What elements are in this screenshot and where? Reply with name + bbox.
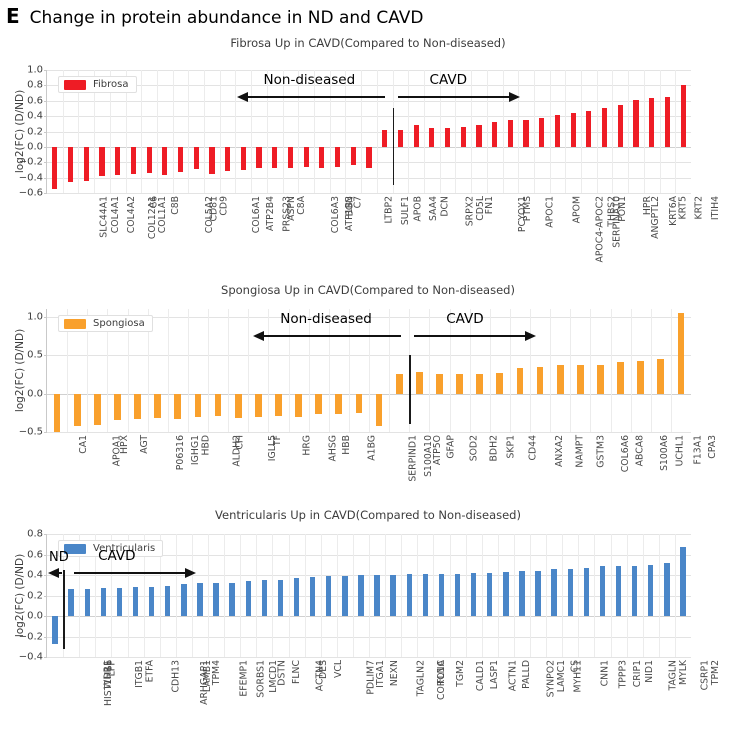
x-tick-label: ITGB1	[134, 660, 145, 688]
x-tick-label: THBS2	[606, 196, 617, 227]
bar	[577, 365, 584, 393]
x-tick-label: SORBS1	[256, 660, 267, 698]
y-tick-label: −0.5	[19, 427, 43, 438]
x-tick-label: KRT2	[693, 196, 704, 219]
gridline-vertical	[369, 309, 370, 432]
gridline-vertical	[514, 534, 515, 657]
x-tick-label: CPA3	[707, 435, 718, 459]
bar	[455, 574, 460, 616]
x-tick-label: HBD	[201, 435, 212, 456]
x-tick-label: LASP1	[489, 660, 500, 689]
gridline-vertical	[565, 70, 566, 193]
gridline-vertical	[417, 534, 418, 657]
gridline-horizontal	[47, 132, 691, 133]
bar	[68, 147, 73, 182]
gridline-vertical	[675, 70, 676, 193]
bar	[288, 147, 293, 168]
x-tick-label: COL6A3	[330, 196, 341, 233]
bar	[94, 394, 101, 426]
gridline-vertical	[471, 70, 472, 193]
y-tick-mark	[44, 193, 47, 194]
gridline-vertical	[349, 309, 350, 432]
plot-area-fibrosa: −0.6−0.4−0.20.00.20.40.60.81.0	[46, 70, 691, 194]
gridline-vertical	[612, 70, 613, 193]
x-tick-label: NAMPT	[575, 435, 586, 468]
group-divider-line	[409, 355, 411, 424]
gridline-vertical	[455, 70, 456, 193]
annotation-arrow-non-diseased	[237, 92, 385, 102]
y-tick-label: −0.6	[19, 188, 43, 199]
x-tick-label: C6	[148, 196, 159, 208]
x-tick-label: TGM2	[455, 660, 466, 687]
bar	[476, 374, 483, 394]
bar	[617, 362, 624, 394]
gridline-vertical	[518, 70, 519, 193]
bar	[134, 394, 141, 419]
bar	[382, 130, 387, 147]
bar	[99, 147, 104, 176]
y-tick-label: 1.0	[27, 311, 43, 322]
bar	[68, 589, 73, 616]
bar	[342, 576, 347, 616]
gridline-vertical	[337, 534, 338, 657]
bar	[537, 367, 544, 394]
bar	[356, 394, 363, 413]
x-tick-label: LAMC1	[557, 660, 568, 692]
bar	[101, 588, 106, 616]
annotation-nd-label: ND	[49, 550, 69, 565]
x-tick-label: P06316	[175, 435, 186, 470]
y-tick-mark	[44, 162, 47, 163]
gridline-vertical	[546, 534, 547, 657]
gridline-vertical	[168, 309, 169, 432]
annotation-non-diseased-label: Non-diseased	[264, 72, 356, 88]
x-tick-label: ITIH4	[710, 196, 721, 220]
gridline-vertical	[498, 534, 499, 657]
gridline-vertical	[611, 534, 612, 657]
x-tick-label: CSRP1	[700, 660, 711, 690]
bar	[115, 147, 120, 175]
y-tick-label: 0.5	[27, 350, 43, 361]
x-tick-label: TAGLN	[668, 660, 679, 691]
bar	[194, 147, 199, 169]
y-tick-label: 0.8	[27, 80, 43, 91]
legend-spongiosa: Spongiosa	[58, 315, 153, 332]
gridline-vertical	[141, 70, 142, 193]
y-tick-mark	[44, 432, 47, 433]
x-tick-label: NEXN	[390, 660, 401, 686]
x-tick-label: CRIP1	[632, 660, 643, 687]
bar	[256, 147, 261, 169]
annotation-arrow-non-diseased	[253, 331, 401, 341]
x-tick-label: KRT5	[678, 196, 689, 219]
x-tick-label: AHSG	[327, 435, 338, 461]
bar	[241, 147, 246, 170]
bar	[551, 569, 556, 616]
bar	[197, 583, 202, 616]
x-tick-label: SOD2	[468, 435, 479, 461]
chart-title-fibrosa: Fibrosa Up in CAVD(Compared to Non-disea…	[0, 36, 736, 50]
x-tick-label: LTBP2	[383, 196, 394, 223]
bar	[535, 571, 540, 616]
bar	[326, 576, 331, 616]
gridline-vertical	[256, 534, 257, 657]
x-tick-label: GSTM3	[595, 435, 606, 468]
gridline-vertical	[251, 70, 252, 193]
x-tick-label: IGHG1	[190, 435, 201, 465]
bar	[278, 580, 283, 616]
bar	[665, 97, 670, 147]
gridline-vertical	[671, 309, 672, 432]
gridline-vertical	[188, 70, 189, 193]
x-tick-label: TPPP3	[617, 660, 628, 688]
x-tick-label: CDH13	[170, 660, 181, 692]
y-tick-label: 0.4	[27, 570, 43, 581]
chart-title-spongiosa: Spongiosa Up in CAVD(Compared to Non-dis…	[0, 283, 736, 297]
y-tick-mark	[44, 317, 47, 318]
bar	[215, 394, 222, 416]
gridline-vertical	[660, 70, 661, 193]
gridline-horizontal	[47, 116, 691, 117]
bar	[423, 574, 428, 616]
gridline-vertical	[268, 309, 269, 432]
gridline-vertical	[314, 70, 315, 193]
y-tick-label: 0.6	[27, 549, 43, 560]
gridline-vertical	[309, 309, 310, 432]
y-tick-mark	[44, 147, 47, 148]
x-tick-label: COL4A2	[126, 196, 137, 233]
bar	[616, 566, 621, 616]
y-tick-label: −0.2	[19, 631, 43, 642]
bar	[632, 566, 637, 616]
gridline-vertical	[228, 309, 229, 432]
x-tick-label: CALD1	[475, 660, 486, 691]
gridline-vertical	[550, 70, 551, 193]
bar	[174, 394, 181, 419]
bar	[398, 130, 403, 147]
gridline-vertical	[377, 70, 378, 193]
gridline-vertical	[224, 534, 225, 657]
x-tick-label: ANXA2	[554, 435, 565, 467]
gridline-vertical	[192, 534, 193, 657]
gridline-vertical	[487, 70, 488, 193]
bar	[416, 372, 423, 394]
bar	[358, 575, 363, 616]
bar	[114, 394, 121, 420]
x-tick-label: DES	[318, 660, 329, 679]
gridline-vertical	[440, 70, 441, 193]
gridline-vertical	[298, 70, 299, 193]
bar	[557, 365, 564, 393]
gridline-vertical	[305, 534, 306, 657]
x-tick-label: FLNC	[291, 660, 302, 684]
y-tick-label: 0.6	[27, 95, 43, 106]
bar	[439, 574, 444, 616]
x-tick-label: SYNPO2	[546, 660, 557, 697]
gridline-vertical	[272, 534, 273, 657]
bar	[295, 394, 302, 418]
x-tick-label: GFAP	[445, 435, 456, 459]
bar	[351, 147, 356, 165]
gridline-vertical	[627, 534, 628, 657]
gridline-vertical	[188, 309, 189, 432]
gridline-vertical	[345, 70, 346, 193]
gridline-vertical	[389, 309, 390, 432]
y-tick-mark	[44, 534, 47, 535]
bar	[584, 568, 589, 616]
bar	[133, 587, 138, 616]
x-tick-label: FN1	[484, 196, 495, 214]
bar	[633, 100, 638, 147]
bar	[436, 374, 443, 393]
x-tick-label: NID1	[644, 660, 655, 683]
x-tick-label: CFI	[235, 435, 246, 450]
bar	[657, 359, 664, 394]
gridline-vertical	[562, 534, 563, 657]
x-tick-label: LPP	[106, 660, 117, 676]
x-tick-label: BDH2	[488, 435, 499, 461]
bar	[165, 586, 170, 616]
bar	[162, 147, 167, 175]
bar	[519, 571, 524, 616]
gridline-horizontal	[47, 85, 691, 86]
x-tick-label: SKP1	[506, 435, 517, 459]
y-tick-mark	[44, 70, 47, 71]
bar	[476, 125, 481, 147]
y-tick-mark	[44, 657, 47, 658]
bar	[407, 574, 412, 616]
bar	[304, 147, 309, 167]
x-tick-label: S100A6	[659, 435, 670, 471]
bar	[680, 547, 685, 616]
y-tick-mark	[44, 596, 47, 597]
bar	[154, 394, 161, 419]
bar	[181, 584, 186, 616]
x-tick-label: C8B	[170, 196, 181, 215]
x-tick-label: ATP5O	[432, 435, 443, 465]
x-tick-label: COL6A6	[620, 435, 631, 472]
x-tick-label: CA1	[78, 435, 89, 454]
gridline-vertical	[208, 534, 209, 657]
x-tick-label: HBB	[341, 435, 352, 455]
bar	[496, 373, 503, 394]
gridline-vertical	[433, 534, 434, 657]
gridline-vertical	[534, 70, 535, 193]
bar	[149, 587, 154, 616]
gridline-vertical	[631, 309, 632, 432]
bar	[147, 147, 152, 173]
annotation-non-diseased-label: Non-diseased	[280, 311, 372, 327]
legend-label: Fibrosa	[93, 79, 129, 90]
x-tick-label: COL6A1	[252, 196, 263, 233]
bar	[131, 147, 136, 174]
x-tick-label: SULF1	[401, 196, 412, 225]
x-tick-label: C7	[352, 196, 363, 208]
gridline-vertical	[450, 309, 451, 432]
bar	[600, 566, 605, 616]
gridline-vertical	[470, 309, 471, 432]
gridline-vertical	[530, 309, 531, 432]
bar	[597, 365, 604, 393]
gridline-vertical	[385, 534, 386, 657]
x-tick-label: APOC4-APOC2	[595, 196, 606, 263]
x-tick-label: F13A1	[693, 435, 704, 464]
bar	[568, 569, 573, 616]
x-tick-label: HPR	[642, 196, 653, 215]
bar	[503, 572, 508, 616]
bar	[246, 581, 251, 616]
bar	[649, 98, 654, 147]
bar	[648, 565, 653, 616]
y-tick-label: 0.0	[27, 388, 43, 399]
annotation-arrow-cavd	[414, 331, 536, 341]
x-tick-label: SERPIND1	[408, 435, 419, 482]
bar	[310, 577, 315, 616]
bar	[390, 575, 395, 616]
gridline-vertical	[157, 70, 158, 193]
x-tick-label: FLNA	[435, 660, 446, 684]
y-tick-label: 0.0	[27, 611, 43, 622]
y-tick-mark	[44, 132, 47, 133]
y-tick-mark	[44, 355, 47, 356]
bar	[571, 113, 576, 147]
y-tick-mark	[44, 616, 47, 617]
bar	[414, 125, 419, 147]
y-axis-label-spongiosa: log2(FC) (D/ND)	[14, 309, 26, 432]
gridline-vertical	[283, 70, 284, 193]
x-tick-label: TF	[272, 435, 283, 446]
gridline-vertical	[482, 534, 483, 657]
bar	[508, 120, 513, 147]
y-tick-mark	[44, 178, 47, 179]
bar	[445, 128, 450, 147]
bar	[456, 374, 463, 393]
gridline-vertical	[643, 534, 644, 657]
legend-swatch	[64, 80, 86, 90]
bar	[74, 394, 81, 426]
y-tick-mark	[44, 116, 47, 117]
gridline-vertical	[597, 70, 598, 193]
legend-label: Spongiosa	[93, 318, 145, 329]
bar	[523, 120, 528, 147]
gridline-vertical	[651, 309, 652, 432]
group-divider-line	[393, 108, 395, 185]
y-tick-mark	[44, 394, 47, 395]
bar	[262, 580, 267, 616]
gridline-horizontal	[47, 70, 691, 71]
y-tick-label: 1.0	[27, 65, 43, 76]
gridline-vertical	[401, 534, 402, 657]
gridline-vertical	[361, 70, 362, 193]
gridline-vertical	[248, 309, 249, 432]
gridline-vertical	[424, 70, 425, 193]
gridline-vertical	[675, 534, 676, 657]
gridline-vertical	[490, 309, 491, 432]
x-tick-label: APOC1	[544, 196, 555, 228]
x-tick-label: HRG	[301, 435, 312, 456]
bar	[225, 147, 230, 172]
x-tick-label: DCN	[439, 196, 450, 217]
bar	[84, 147, 89, 182]
bar	[272, 147, 277, 169]
gridline-vertical	[329, 309, 330, 432]
group-divider-line	[63, 570, 65, 649]
x-tick-label: SLC44A1	[99, 196, 110, 238]
gridline-horizontal	[47, 178, 691, 179]
bar	[335, 394, 342, 415]
chart-title-ventricularis: Ventricularis Up in CAVD(Compared to Non…	[0, 508, 736, 522]
gridline-vertical	[176, 534, 177, 657]
x-tick-label: CD44	[528, 435, 539, 460]
bar	[255, 394, 262, 417]
bar	[209, 147, 214, 174]
gridline-vertical	[659, 534, 660, 657]
bar	[461, 127, 466, 147]
panel-letter: E	[6, 6, 20, 26]
bar	[471, 573, 476, 616]
bar	[396, 374, 403, 394]
x-tick-label: COL4A1	[110, 196, 121, 233]
x-tick-label: VCL	[333, 660, 344, 678]
gridline-vertical	[570, 309, 571, 432]
x-tick-label: CS	[569, 660, 580, 672]
annotation-cavd-label: CAVD	[446, 311, 483, 327]
gridline-vertical	[330, 70, 331, 193]
bar	[319, 147, 324, 168]
legend-swatch	[64, 319, 86, 329]
bar	[374, 575, 379, 616]
bar	[681, 85, 686, 147]
bar	[52, 616, 57, 644]
x-tick-label: ACTN1	[507, 660, 518, 691]
bar	[637, 361, 644, 393]
bar	[429, 128, 434, 146]
x-tick-label: TAGLN2	[416, 660, 427, 696]
legend-fibrosa: Fibrosa	[58, 76, 137, 93]
bar	[275, 394, 282, 416]
x-tick-label: MYLK	[678, 660, 689, 685]
gridline-horizontal	[47, 432, 691, 433]
x-tick-label: SAA4	[428, 196, 439, 221]
gridline-vertical	[550, 309, 551, 432]
bar	[54, 394, 61, 432]
y-tick-label: 0.0	[27, 141, 43, 152]
bar	[487, 573, 492, 616]
y-tick-label: −0.4	[19, 172, 43, 183]
gridline-vertical	[628, 70, 629, 193]
bar	[539, 118, 544, 146]
x-tick-label: DSTN	[276, 660, 287, 686]
x-tick-label: C8A	[296, 196, 307, 215]
bar	[294, 578, 299, 616]
gridline-vertical	[429, 309, 430, 432]
bar	[235, 394, 242, 419]
x-tick-label: TPM4	[211, 660, 222, 685]
gridline-vertical	[466, 534, 467, 657]
gridline-vertical	[369, 534, 370, 657]
bar	[213, 583, 218, 616]
x-tick-label: HPX	[119, 435, 130, 454]
bar	[555, 115, 560, 147]
annotation-cavd-label: CAVD	[430, 72, 467, 88]
x-tick-label: APOM	[571, 196, 582, 223]
bar	[195, 394, 202, 418]
gridline-vertical	[590, 309, 591, 432]
y-tick-label: 0.2	[27, 590, 43, 601]
bar	[52, 147, 57, 189]
gridline-vertical	[353, 534, 354, 657]
y-tick-mark	[44, 85, 47, 86]
